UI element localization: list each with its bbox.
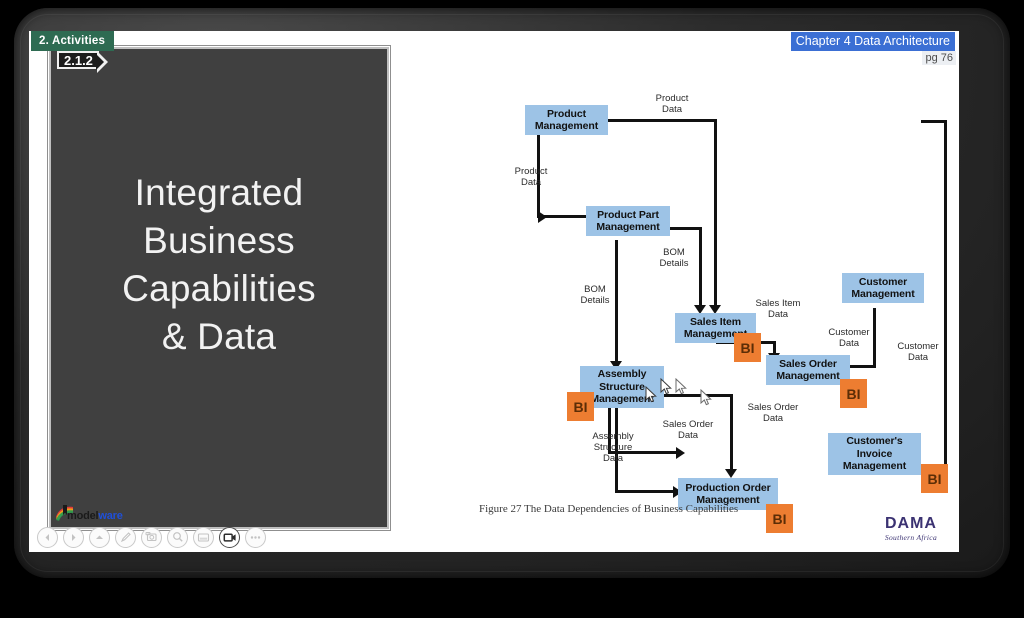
badge-bi-customers-invoice[interactable]: BI xyxy=(921,464,948,493)
badge-bi-customers-invoice-label: BI xyxy=(928,471,942,487)
edge-assembly-to-production-horizontal xyxy=(615,490,677,493)
slide-title-line-1: Integrated xyxy=(61,169,377,217)
step-tag-label: 2.1.2 xyxy=(64,53,93,68)
node-customers-invoice-management[interactable]: Customer's Invoice Management xyxy=(828,433,921,475)
edge-label-bom-details-right: BOM Details xyxy=(650,247,698,269)
chapter-title: Chapter 4 Data Architecture xyxy=(791,32,955,51)
edge-label-sales-item-data: Sales Item Data xyxy=(745,298,811,320)
edge-product-to-salesitem-vertical xyxy=(714,119,717,309)
note-icon[interactable] xyxy=(193,527,214,548)
edge-label-customer-data-right: Customer Data xyxy=(887,341,949,363)
device-frame: 2.1.2 Integrated Business Capabilities &… xyxy=(0,0,1024,618)
cursor-arrow-icon-1 xyxy=(660,378,673,396)
edge-to-invoice-arrow xyxy=(676,447,685,459)
node-product-management[interactable]: Product Management xyxy=(525,105,608,135)
footer-strip xyxy=(0,578,1024,618)
badge-bi-sales-order[interactable]: BI xyxy=(840,379,867,408)
node-customer-management-label: Customer Management xyxy=(851,276,914,301)
modelware-flag-icon xyxy=(54,504,76,522)
figure-caption: Figure 27 The Data Dependencies of Busin… xyxy=(479,503,738,515)
modelware-logo: modelware xyxy=(67,510,123,522)
up-arrow-icon[interactable] xyxy=(89,527,110,548)
step-tag-arrow-inner-icon xyxy=(96,54,104,70)
edge-salesorder-to-production-arrow xyxy=(725,469,737,478)
screen: 2.1.2 Integrated Business Capabilities &… xyxy=(29,31,959,552)
edge-label-assembly-structure-data: Assembly Structure Data xyxy=(580,431,646,464)
slide-title-line-4: & Data xyxy=(61,313,377,361)
step-tag: 2.1.2 xyxy=(57,51,99,69)
edge-label-customer-data-left: Customer Data xyxy=(818,327,880,349)
slide-pane: 2.1.2 Integrated Business Capabilities &… xyxy=(29,31,400,552)
badge-bi-sales-order-label: BI xyxy=(847,386,861,402)
edge-part-to-salesitem-vertical xyxy=(699,227,702,309)
node-customer-management[interactable]: Customer Management xyxy=(842,273,924,303)
cursor-arrow-icon-3 xyxy=(675,378,688,396)
dama-logo-text: DAMA xyxy=(885,515,937,533)
node-customers-invoice-management-label: Customer's Invoice Management xyxy=(843,435,906,473)
camera-icon[interactable] xyxy=(141,527,162,548)
edge-label-sales-order-data-right: Sales Order Data xyxy=(740,402,806,424)
node-product-management-label: Product Management xyxy=(535,108,598,133)
badge-bi-sales-item-label: BI xyxy=(741,340,755,356)
slide-canvas[interactable]: 2.1.2 Integrated Business Capabilities &… xyxy=(49,47,389,529)
slide-title-line-3: Capabilities xyxy=(61,265,377,313)
pencil-icon[interactable] xyxy=(115,527,136,548)
activities-tab[interactable]: 2. Activities xyxy=(31,31,114,51)
edge-product-to-part-horizontal xyxy=(537,215,587,218)
edge-label-product-data-top: Product Data xyxy=(642,93,702,115)
edge-label-bom-details-left: BOM Details xyxy=(571,284,619,306)
search-icon[interactable] xyxy=(167,527,188,548)
slide-title: Integrated Business Capabilities & Data xyxy=(61,169,377,361)
back-arrow-icon[interactable] xyxy=(37,527,58,548)
node-product-part-management[interactable]: Product Part Management xyxy=(586,206,670,236)
modelware-text-ware: ware xyxy=(98,510,122,522)
badge-bi-production-order[interactable]: BI xyxy=(766,504,793,533)
dama-logo: DAMA Southern Africa xyxy=(885,515,937,542)
badge-bi-sales-item[interactable]: BI xyxy=(734,333,761,362)
edge-customer-to-invoice-vertical xyxy=(944,120,947,472)
cursor-arrow-icon-2 xyxy=(645,386,658,404)
page-reference: pg 76 xyxy=(922,51,956,65)
bottom-toolbar: modelware xyxy=(29,522,400,552)
video-camera-icon[interactable] xyxy=(219,527,240,548)
badge-bi-assembly-label: BI xyxy=(574,399,588,415)
node-sales-order-management-label: Sales Order Management xyxy=(776,358,839,383)
cursor-arrow-icon-4 xyxy=(700,389,713,407)
edge-label-sales-order-data-mid: Sales Order Data xyxy=(655,419,721,441)
slide-title-line-2: Business xyxy=(61,217,377,265)
ellipsis-icon[interactable] xyxy=(245,527,266,548)
node-sales-order-management[interactable]: Sales Order Management xyxy=(766,355,850,385)
edge-salesorder-to-production-vertical xyxy=(730,394,733,474)
node-product-part-management-label: Product Part Management xyxy=(596,209,659,234)
edge-product-to-salesitem-horizontal xyxy=(607,119,717,122)
edge-label-product-data-left: Product Data xyxy=(501,166,561,188)
dama-logo-region: Southern Africa xyxy=(885,533,937,542)
forward-arrow-icon[interactable] xyxy=(63,527,84,548)
badge-bi-production-order-label: BI xyxy=(773,511,787,527)
diagram-pane: Product Management Product Part Manageme… xyxy=(400,31,959,552)
badge-bi-assembly[interactable]: BI xyxy=(567,392,594,421)
